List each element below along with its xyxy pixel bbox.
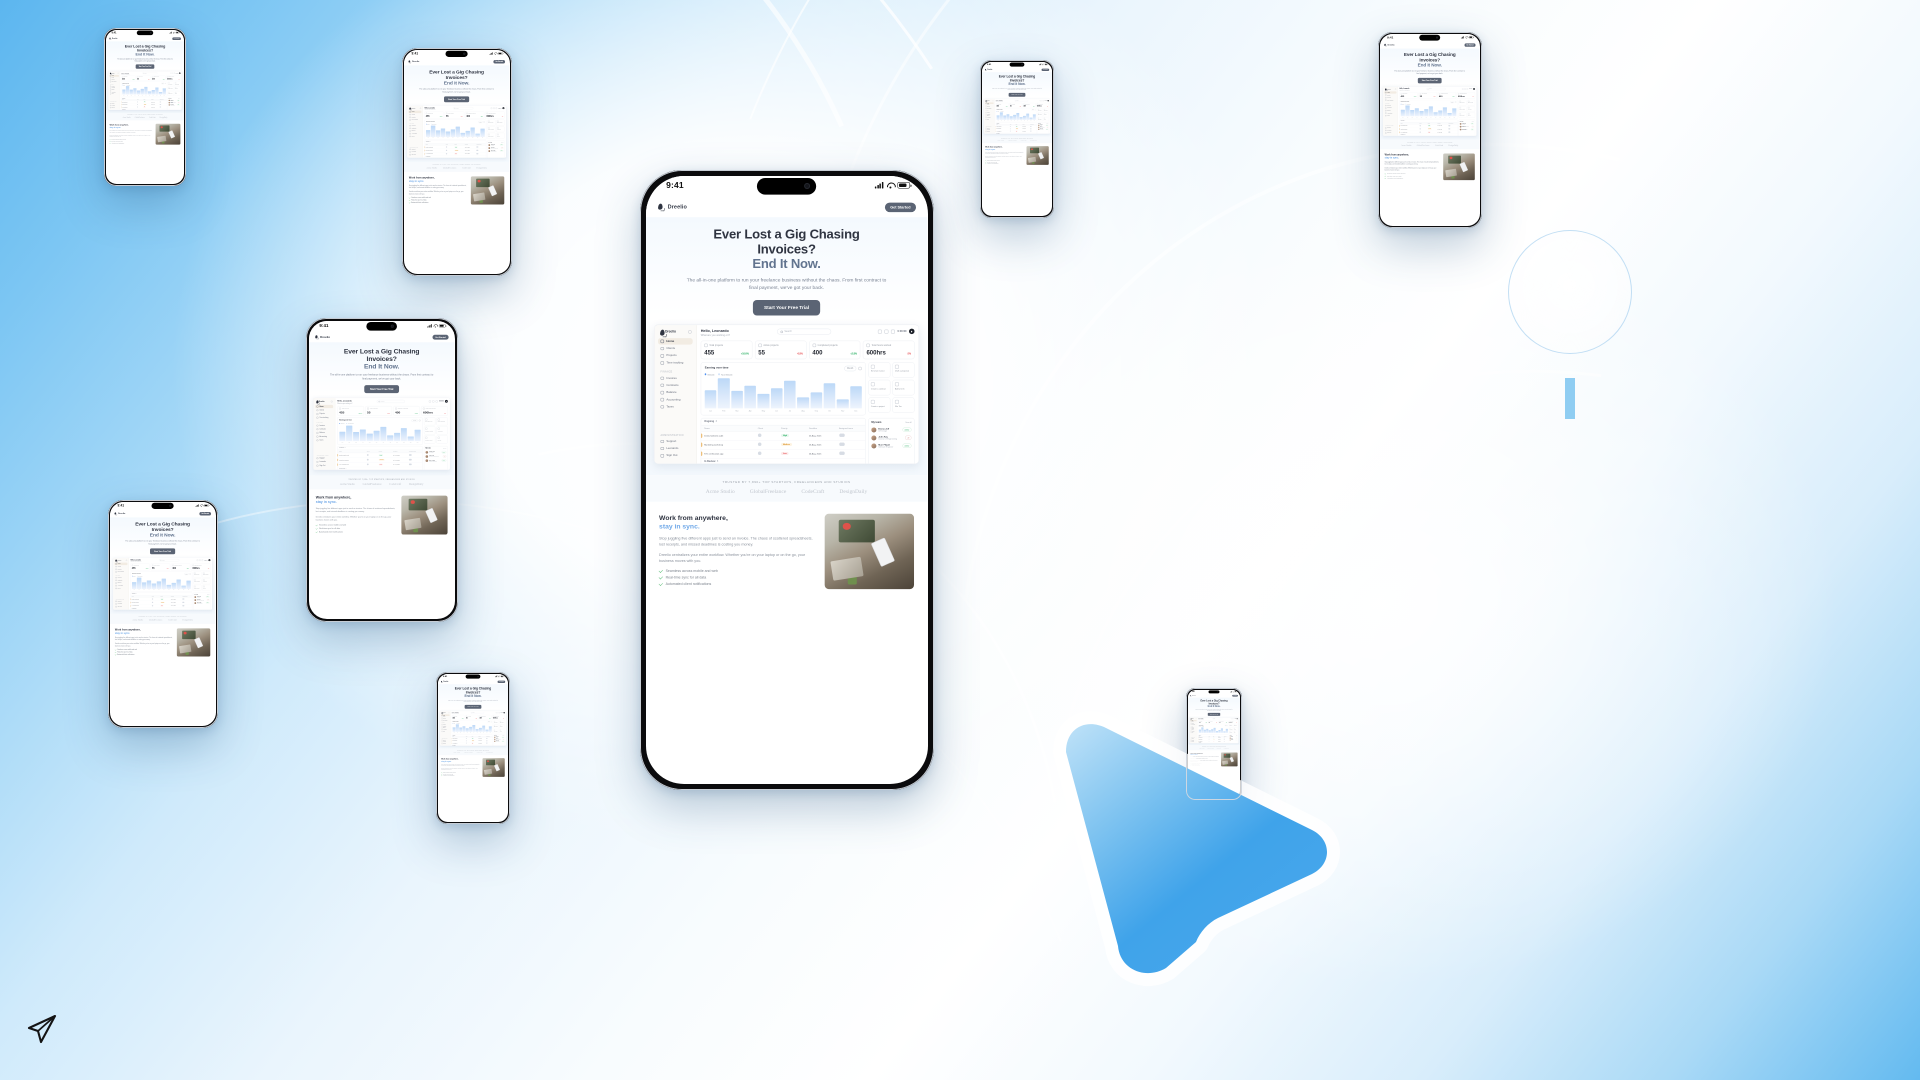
settings-icon[interactable] <box>436 401 438 403</box>
quick-action-card[interactable]: Create a contract <box>168 86 174 90</box>
start-free-trial-button[interactable]: Start Your Free Trial <box>365 385 400 393</box>
sidebar-item-sign-out[interactable]: Sign Out <box>658 453 693 460</box>
sidebar-item-taxes[interactable]: Taxes <box>109 93 119 95</box>
chart-range-select[interactable]: Month <box>161 83 164 85</box>
trust-logos: Acme StudioGlobalFreelanceCodeCraftDesig… <box>1384 145 1476 147</box>
get-started-button[interactable]: Get Started <box>494 60 506 64</box>
get-started-button[interactable]: Get Started <box>497 681 505 683</box>
cell-name: Marketing workshop <box>122 104 137 105</box>
team-title: My team <box>494 735 497 736</box>
brand-logo[interactable]: Dreelio <box>657 204 687 212</box>
sidebar-item-label: Taxes <box>320 440 324 442</box>
stat-card: Total projects455+16.6% <box>338 406 365 416</box>
team-member[interactable]: Murr FilipdiSoftware Engineeronline <box>195 602 210 605</box>
quick-action-card[interactable]: Add a form <box>1467 106 1475 112</box>
table-tab-label: Ongoing <box>705 421 715 424</box>
get-started-button[interactable]: Get Started <box>1041 69 1049 71</box>
sidebar-item-taxes[interactable]: Taxes <box>441 731 450 733</box>
document-icon[interactable] <box>885 330 889 334</box>
team-member[interactable]: Murr FilipdiSoftware Engineeronline <box>872 442 912 450</box>
quick-action-card[interactable]: Draft a proposal <box>499 720 505 724</box>
table-tab-in-review[interactable]: In Review 5 <box>702 459 866 465</box>
sidebar-item-sign-out[interactable]: Sign Out <box>109 107 119 109</box>
dashboard-search-input[interactable]: Search <box>471 712 485 714</box>
start-timer-button[interactable] <box>1047 100 1048 101</box>
download-icon[interactable] <box>1035 109 1036 110</box>
quick-action-card[interactable]: Create a contract <box>1037 113 1043 117</box>
sidebar-item-home[interactable]: Home <box>658 339 693 346</box>
get-started-button[interactable]: Get Started <box>200 512 212 516</box>
quick-action-card[interactable]: Create a contract <box>1459 106 1467 112</box>
table-row[interactable]: KYC verification appLow26 Aug, 2025 <box>338 463 423 468</box>
globe-icon[interactable] <box>878 330 882 334</box>
table-row[interactable]: KYC verification appLow26 Aug, 2025 <box>452 742 493 744</box>
table-tab-in-review[interactable]: In Review 5 <box>131 608 192 610</box>
chart-x-label: Sep <box>811 410 823 412</box>
table-body: Dental website auditHigh25 Aug, 2025Mark… <box>996 126 1037 133</box>
sidebar-item-label: Accounting <box>667 399 681 402</box>
sidebar-item-taxes[interactable]: Taxes <box>658 404 693 411</box>
phone-mockup[interactable]: 9:41 Dreelio Get Started <box>980 60 1054 218</box>
quick-action-card[interactable]: Add a form <box>893 380 915 396</box>
work-photo <box>1443 154 1475 181</box>
start-free-trial-button[interactable]: Start Your Free Trial <box>444 97 469 103</box>
chart-bar-column <box>163 86 166 94</box>
sidebar-item-support[interactable]: Support <box>658 439 693 446</box>
phone-mockup[interactable]: 9:41 Dreelio Get Started <box>436 672 510 824</box>
table-tab-in-review[interactable]: In Review 5 <box>121 108 167 110</box>
chart-bar-column <box>481 126 485 137</box>
sidebar-item-leonardo[interactable]: Leonardo <box>658 446 693 453</box>
quick-action-card[interactable]: Draft a proposal <box>497 120 505 126</box>
sidebar-item-sign-out[interactable]: Sign Out <box>316 464 334 467</box>
quick-action-card[interactable]: Draft a proposal <box>174 82 180 86</box>
table-row[interactable]: KYC verification appLow26 Aug, 2025 <box>702 450 866 459</box>
work-heading-line2: stay in sync. <box>316 500 337 504</box>
earnings-chart-card: Earning over time Month BillableNon Bill… <box>121 82 167 97</box>
stat-change: +2.8% <box>1453 97 1455 98</box>
stat-card: Active projects55-6.8% <box>136 76 150 81</box>
table-tab-in-review[interactable]: In Review 5 <box>996 132 1037 133</box>
collapse-sidebar-icon[interactable] <box>993 100 994 101</box>
cell-name: Dental website audit <box>426 147 446 148</box>
work-photo <box>402 496 448 535</box>
dashboard-search-input[interactable]: Search <box>159 560 179 562</box>
sidebar-item-label: Clients <box>320 410 325 412</box>
start-free-trial-button[interactable]: Start Your Free Trial <box>1009 93 1026 97</box>
quick-action-card[interactable]: File Tax <box>437 436 448 444</box>
play-cursor-svg <box>1050 718 1332 980</box>
sidebar-primary-nav: HomeClientsProjectsTime tracking <box>1385 92 1397 102</box>
hero-section: Ever Lost a Gig Chasing Invoices? End It… <box>982 72 1052 97</box>
settings-icon[interactable] <box>891 330 895 334</box>
stat-change: -6.8% <box>1020 106 1022 107</box>
stat-value: 600hrs <box>867 349 886 356</box>
sidebar-item-label: Accounting <box>443 729 447 730</box>
start-free-trial-button[interactable]: Start Your Free Trial <box>1208 713 1220 716</box>
chart-header: Earning over time Month <box>340 419 421 422</box>
dashboard-main: Hello, Leonardo What are you working on?… <box>697 326 919 465</box>
trust-bar: TRUSTED BY 7,890+ TOP STARTUPS, FREELANC… <box>404 162 509 172</box>
cell-deadline: 26 Aug, 2025 <box>465 154 476 155</box>
client-avatar <box>758 434 762 438</box>
work-paragraph-1: Stop juggling five different apps just t… <box>316 507 397 513</box>
quick-action-card[interactable]: Add a form <box>497 127 505 133</box>
action-label: Create a contract <box>426 431 435 432</box>
start-timer-button[interactable] <box>209 560 211 562</box>
team-member[interactable]: Murr FilipdiSoftware Engineeronline <box>1038 128 1048 130</box>
start-free-trial-button[interactable]: Start Your Free Trial <box>1418 78 1442 84</box>
start-free-trial-button[interactable]: Start Your Free Trial <box>150 549 175 555</box>
sidebar-item-sign-out[interactable]: Sign Out <box>1385 132 1397 134</box>
quick-action-card[interactable]: File Tax <box>1467 112 1475 118</box>
checklist-label: Real-time sync for all data <box>666 576 707 580</box>
quick-action-card[interactable]: Create a contract <box>869 380 891 396</box>
stat-card: Total hours worked600hrs-2% <box>166 76 180 81</box>
quick-action-card[interactable]: Send an invoice <box>493 720 499 724</box>
action-icon <box>895 400 899 404</box>
sidebar-item-projects[interactable]: Projects <box>658 353 693 360</box>
stat-label: Total hours worked <box>426 408 436 409</box>
sidebar-item-balance[interactable]: Balance <box>658 390 693 397</box>
dashboard-search-input[interactable]: Search <box>1015 100 1029 102</box>
download-icon[interactable] <box>1455 102 1456 103</box>
nav-icon <box>661 362 664 365</box>
quick-action-card[interactable]: Send an invoice <box>488 120 496 126</box>
work-heading-line1: Work from anywhere, <box>660 514 729 522</box>
work-heading-line2: stay in sync. <box>441 760 451 762</box>
table-tab-in-review[interactable]: In Review 5 <box>425 156 486 158</box>
quick-action-card[interactable]: Create a project <box>488 133 496 139</box>
sidebar-item-taxes[interactable]: Taxes <box>1385 115 1397 117</box>
quick-action-card[interactable]: Draft a proposal <box>1467 100 1475 106</box>
member-role: Software Engineer <box>170 105 176 106</box>
quick-action-card[interactable]: Draft a proposal <box>893 362 915 378</box>
sidebar-item-sign-out[interactable]: Sign Out <box>409 154 422 156</box>
quick-action-card[interactable]: Create a project <box>1037 117 1043 121</box>
nav-icon <box>317 413 319 415</box>
sidebar-item-taxes[interactable]: Taxes <box>409 136 422 138</box>
team-member[interactable]: Murr FilipdiSoftware Engineeronline <box>489 150 504 153</box>
collapse-sidebar-icon[interactable] <box>420 108 421 109</box>
nav-icon <box>661 391 664 394</box>
sidebar-item-label: Time tracking <box>320 417 329 419</box>
get-started-button[interactable]: Get Started <box>1232 695 1238 697</box>
cell-name: Marketing workshop <box>705 444 758 447</box>
get-started-button[interactable]: Get Started <box>433 335 449 340</box>
table-row[interactable]: KYC verification appLow26 Aug, 2025 <box>131 605 192 608</box>
brand-logo[interactable]: Dreelio <box>1190 695 1196 696</box>
quick-action-card[interactable]: File Tax <box>1043 117 1049 121</box>
quick-action-card[interactable]: Create a contract <box>488 127 496 133</box>
sidebar-primary-nav: HomeClientsProjectsTime tracking <box>109 75 119 83</box>
avatar <box>410 454 412 456</box>
quick-action-card[interactable]: Create a contract <box>493 725 499 729</box>
dashboard-search-input[interactable]: Search <box>453 108 473 110</box>
start-free-trial-button[interactable]: Start Your Free Trial <box>136 64 155 68</box>
quick-action-card[interactable]: Create a project <box>493 729 499 733</box>
team-see-all-link[interactable]: See all <box>178 98 180 99</box>
check-icon <box>659 582 663 586</box>
sidebar-item-taxes[interactable]: Taxes <box>985 119 994 121</box>
quick-action-card[interactable]: File Tax <box>497 133 505 139</box>
status-badge: off <box>1047 127 1049 128</box>
stat-value: 600hrs <box>487 115 494 118</box>
quick-action-card[interactable]: Create a project <box>168 91 174 95</box>
chart-x-label: Feb <box>347 442 353 443</box>
hero-section: Ever Lost a Gig Chasing Invoices? End It… <box>646 218 927 316</box>
dashboard-lower: Ongoing 3 NameClientPriorityDeadlineAssi… <box>1400 120 1476 136</box>
quick-action-card[interactable]: Add a form <box>437 427 448 435</box>
work-checklist: Seamless across mobile and webReal-time … <box>409 198 468 204</box>
trust-logo: CodeCraft <box>1435 145 1443 147</box>
quick-action-card[interactable]: Draft a proposal <box>1043 108 1049 112</box>
greeting-title: Hello, Leonardo <box>701 329 730 334</box>
collapse-sidebar-icon[interactable] <box>449 712 450 713</box>
collapse-sidebar-icon[interactable] <box>1395 89 1396 90</box>
quick-action-card[interactable]: Draft a proposal <box>203 572 211 578</box>
chart-header: Earning over time Month <box>705 366 862 372</box>
table-row[interactable]: KYC verification appLow26 Aug, 2025 <box>121 106 167 109</box>
stat-change: +2.8% <box>415 413 418 414</box>
phone-mockup[interactable]: 9:41 Dreelio Get Started <box>306 318 458 622</box>
table-tab-in-review[interactable]: In Review 5 <box>338 467 423 470</box>
quick-action-card[interactable]: Add a form <box>174 86 180 90</box>
brand-name: Dreelio <box>412 61 419 63</box>
quick-action-card[interactable]: Add a form <box>203 579 211 585</box>
cell-name: Marketing workshop <box>1401 129 1420 130</box>
table-tab-in-review[interactable]: In Review 5 <box>452 744 493 745</box>
chart-bar-column <box>381 426 387 442</box>
quick-action-card[interactable]: Send an invoice <box>194 572 202 578</box>
greeting-subtitle: What are you working on? <box>131 561 142 562</box>
vibiz-paper-plane-icon[interactable] <box>24 1012 58 1046</box>
table-row[interactable]: KYC verification appLow26 Aug, 2025 <box>996 130 1037 132</box>
work-section: Work from anywhere, stay in sync. Stop j… <box>1380 150 1479 185</box>
download-icon[interactable] <box>484 122 485 123</box>
quick-action-card[interactable]: File Tax <box>499 729 505 733</box>
dreelio-leaf-icon <box>441 681 443 683</box>
sidebar-item-taxes[interactable]: Taxes <box>115 588 128 590</box>
phone-screen: 9:41 Dreelio Get Started <box>646 176 927 783</box>
table-tab-in-review[interactable]: In Review 5 <box>1400 134 1458 136</box>
download-icon[interactable] <box>165 83 166 84</box>
chart-title: Earning over time <box>1401 102 1409 103</box>
dashboard-search-input[interactable]: Search <box>142 72 157 74</box>
dashboard-search-input[interactable]: Search <box>377 400 405 403</box>
start-timer-button[interactable] <box>503 712 504 713</box>
sidebar-item-sign-out[interactable]: Sign Out <box>985 131 994 133</box>
dashboard-search-input[interactable]: Search <box>1427 88 1446 90</box>
quick-action-card[interactable]: Send an invoice <box>869 362 891 378</box>
status-bar-time: 9:41 <box>412 52 419 56</box>
quick-action-card[interactable]: Add a form <box>499 725 505 729</box>
chart-bars <box>705 377 862 408</box>
phone-screen: 9:41 Dreelio Get Started <box>309 321 454 618</box>
sidebar-item-taxes[interactable]: Taxes <box>316 439 334 442</box>
chart-x-labels: JanFebMarAprMayJunJulAugSepOctNovDec <box>122 95 166 96</box>
action-label: Create a contract <box>1038 115 1042 116</box>
brand-logo[interactable]: Dreelio <box>409 61 420 64</box>
phone-mockup[interactable]: 9:41 Dreelio Get Started <box>104 28 186 186</box>
work-section: Work from anywhere, stay in sync. Stop j… <box>982 143 1052 168</box>
stat-card: Total projects455+16.6% <box>425 112 444 119</box>
sidebar-item-sign-out[interactable]: Sign Out <box>441 743 450 745</box>
work-checklist: Seamless across mobile and webReal-time … <box>1385 173 1440 179</box>
collapse-sidebar-icon[interactable] <box>126 560 127 561</box>
action-label: Draft a proposal <box>175 84 180 85</box>
avatar <box>872 428 877 433</box>
quick-action-card[interactable]: Add a form <box>1043 113 1049 117</box>
download-icon[interactable] <box>859 367 863 371</box>
globe-icon[interactable] <box>429 401 431 403</box>
get-started-button[interactable]: Get Started <box>885 203 916 213</box>
quick-action-card[interactable]: Create a project <box>424 436 435 444</box>
trust-bar: TRUSTED BY 7,890+ TOP STARTUPS, FREELANC… <box>438 749 508 756</box>
team-see-all-link[interactable]: See all <box>503 735 505 736</box>
collapse-sidebar-icon[interactable] <box>689 331 693 335</box>
download-icon[interactable] <box>419 420 421 422</box>
brand-logo[interactable]: Dreelio <box>1384 44 1395 47</box>
status-bar-indicators <box>1230 691 1236 692</box>
quick-action-card[interactable]: File Tax <box>203 585 211 591</box>
start-timer-button[interactable] <box>1473 88 1475 90</box>
status-bar-indicators <box>875 182 910 189</box>
quick-action-card[interactable]: Create a project <box>1459 112 1467 118</box>
phone-mockup[interactable]: 9:41 Dreelio Get Started <box>108 500 218 728</box>
start-free-trial-button[interactable]: Start Your Free Trial <box>465 705 482 709</box>
action-label: Create a project <box>494 731 498 732</box>
dashboard-screenshot: Dreelio HomeClientsProjectsTime tracking… <box>1383 87 1477 136</box>
get-started-button[interactable]: Get Started <box>1465 44 1476 47</box>
hero-subtext: The all-in-one platform to run your free… <box>992 87 1042 91</box>
cell-name: Dental website audit <box>1401 126 1420 127</box>
collapse-sidebar-icon[interactable] <box>331 401 333 403</box>
chart-range-select[interactable]: Month <box>1450 101 1454 103</box>
quick-action-card[interactable]: Send an invoice <box>1037 108 1043 112</box>
brand-logo[interactable]: Dreelio <box>109 38 117 40</box>
dashboard-search-input[interactable]: Search <box>777 329 831 335</box>
stat-icon <box>705 344 709 348</box>
trust-caption: TRUSTED BY 7,890+ TOP STARTUPS, FREELANC… <box>441 750 506 751</box>
cellular-signal-icon <box>490 53 493 55</box>
work-section: Work from anywhere, stay in sync. Stop j… <box>106 120 184 147</box>
brand-logo[interactable]: Dreelio <box>985 69 992 71</box>
sidebar-item-clients[interactable]: Clients <box>658 346 693 353</box>
document-icon[interactable] <box>433 401 435 403</box>
trust-logo: GlobalFreelance <box>464 752 473 754</box>
trust-logo: GlobalFreelance <box>1417 145 1430 147</box>
sidebar-item-label: Projects <box>443 718 446 719</box>
dashboard-sidebar: Dreelio HomeClientsProjectsTime tracking… <box>655 326 697 465</box>
avatar <box>160 106 161 107</box>
quick-action-card[interactable]: Send an invoice <box>424 417 435 425</box>
stat-card: Completed projects400+2.8% <box>394 406 421 416</box>
table-row[interactable]: KYC verification appLow26 Aug, 2025 <box>425 153 486 156</box>
avatar <box>183 602 184 603</box>
sidebar-item-time-tracking[interactable]: Time tracking <box>658 360 693 367</box>
team-see-all-link[interactable]: See all <box>906 421 912 424</box>
quick-action-card[interactable]: File Tax <box>893 398 915 414</box>
phone-mockup[interactable]: 9:41 Dreelio Get Started <box>402 48 512 276</box>
dashboard-body: Earning over time Month BillableNon Bill… <box>338 417 449 445</box>
table-row[interactable]: KYC verification appLow26 Aug, 2025 <box>1400 131 1458 134</box>
get-started-button[interactable]: Get Started <box>172 37 181 40</box>
download-icon[interactable] <box>491 721 492 722</box>
sidebar-item-sign-out[interactable]: Sign Out <box>115 606 128 608</box>
chart-range-select[interactable]: Month <box>845 366 857 372</box>
dynamic-island <box>1010 63 1025 67</box>
quick-action-card[interactable]: Send an invoice <box>168 82 174 86</box>
dashboard-preview-wrap: Dreelio HomeClientsProjectsTime tracking… <box>309 393 454 476</box>
chart-x-label: Jan <box>340 442 346 443</box>
start-free-trial-button[interactable]: Start Your Free Trial <box>753 300 820 316</box>
download-icon[interactable] <box>190 574 191 575</box>
sidebar-primary-nav: HomeClientsProjectsTime tracking <box>658 339 693 367</box>
status-bar-time: 9:41 <box>987 63 991 66</box>
phone-mockup[interactable]: 9:41 Dreelio Get Started <box>640 170 934 790</box>
hero-subtext: The all-in-one platform to run your free… <box>117 58 173 62</box>
team-member[interactable]: Murr FilipdiSoftware Engineeronline <box>1460 128 1474 131</box>
start-timer-button[interactable] <box>909 329 915 335</box>
quick-action-card[interactable]: Draft a proposal <box>437 417 448 425</box>
dashboard-screenshot: Dreelio HomeClientsProjectsTime tracking… <box>108 71 182 110</box>
cell-name: Dental website audit <box>705 435 758 438</box>
sidebar-item-contracts[interactable]: Contracts <box>658 382 693 389</box>
sidebar-item-label: Taxes <box>667 406 674 409</box>
hero-subtext: The all-in-one platform to run your free… <box>125 540 200 546</box>
brand-logo[interactable]: Dreelio <box>441 681 448 683</box>
action-label: Add a form <box>204 582 210 583</box>
quick-action-card[interactable]: File Tax <box>174 91 180 95</box>
team-member[interactable]: Murr FilipdiSoftware Engineeronline <box>494 740 504 742</box>
client-avatar <box>1420 132 1421 133</box>
team-member[interactable]: Murr FilipdiSoftware Engineeronline <box>426 459 447 463</box>
collapse-sidebar-icon[interactable] <box>118 73 119 74</box>
my-team-card: My team See all Emma JoffUX Designonline… <box>1459 120 1475 136</box>
brand-logo[interactable]: Dreelio <box>315 335 330 339</box>
quick-action-card[interactable]: Send an invoice <box>1459 100 1467 106</box>
start-timer-button[interactable] <box>179 72 181 74</box>
team-see-all-link[interactable]: See all <box>1047 123 1049 124</box>
cell-name: KYC verification app <box>339 464 367 465</box>
chart-range-select[interactable]: Month <box>412 419 418 422</box>
start-timer-button[interactable] <box>445 400 448 403</box>
sidebar-item-accounting[interactable]: Accounting <box>658 397 693 404</box>
front-camera-icon <box>1021 64 1023 66</box>
team-members: Emma JoffUX DesignonlineJohn KayDirector… <box>1460 123 1474 132</box>
team-member[interactable]: Murr FilipdiSoftware Engineeronline <box>169 104 180 106</box>
start-timer-button[interactable] <box>503 108 505 110</box>
sidebar-item-label: Sign Out <box>1387 133 1391 134</box>
action-label: Draft a proposal <box>438 422 447 423</box>
quick-action-card[interactable]: Create a contract <box>194 579 202 585</box>
brand-logo[interactable]: Dreelio <box>115 513 126 516</box>
work-section: Work from anywhere, stay in sync. Stop j… <box>404 172 509 209</box>
trust-caption: TRUSTED BY 7,890+ TOP STARTUPS, FREELANC… <box>114 617 212 618</box>
chart-bar <box>481 129 485 137</box>
sidebar-item-invoices[interactable]: Invoices <box>658 375 693 382</box>
phone-mockup[interactable]: 9:41 Dreelio Get Started <box>1378 32 1482 228</box>
quick-action-card[interactable]: Create a contract <box>424 427 435 435</box>
cell-priority: Low <box>1016 131 1023 132</box>
team-see-all-link[interactable]: See all <box>443 448 446 449</box>
chart-x-label: Feb <box>718 410 730 412</box>
quick-action-card[interactable]: Create a project <box>194 585 202 591</box>
client-avatar <box>758 443 762 447</box>
action-label: Send an invoice <box>1460 103 1466 104</box>
quick-action-card[interactable]: Create a project <box>869 398 891 414</box>
